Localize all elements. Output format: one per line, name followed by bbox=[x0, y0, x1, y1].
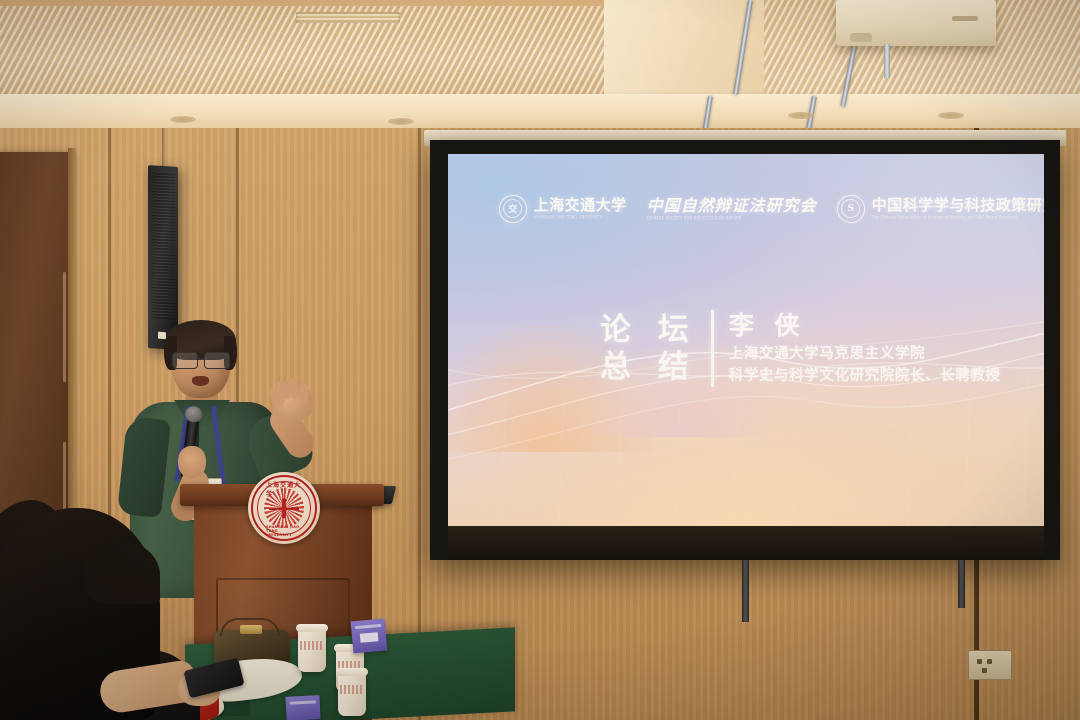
name-card-1-name bbox=[360, 632, 379, 643]
ceiling-downlight-1 bbox=[788, 112, 814, 119]
emblem-top-text: 上海交通大学 bbox=[266, 480, 302, 498]
speaker-cable bbox=[162, 128, 165, 170]
door-edge-highlight-1 bbox=[63, 272, 66, 382]
conference-photo-scene: 交 上海交通大学 SHANGHAI JIAO TONG UNIVERSITY 中… bbox=[0, 0, 1080, 720]
name-card-2-header bbox=[290, 700, 316, 704]
ceiling-vent-left bbox=[296, 12, 400, 23]
slide-affiliation-line-1: 上海交通大学马克思主义学院 bbox=[729, 344, 1001, 365]
ceiling-downlight-2 bbox=[938, 112, 964, 119]
logo-dialectics-cn: 中国自然辩证法研究会 bbox=[647, 198, 817, 214]
sjtu-emblem: 上海交通大学 SHANGHAI JIAO TONG UNIVERSITY bbox=[248, 472, 320, 544]
screen-stand-leg-left bbox=[742, 560, 749, 622]
wall-seam-4 bbox=[418, 128, 421, 720]
slide-title-line-1: 论 坛 bbox=[600, 312, 697, 349]
logo-science-policy-text: 中国科学学与科技政策研究会 The Chinese Association of… bbox=[872, 198, 1044, 220]
paper-cup-3 bbox=[338, 672, 366, 716]
logo-sjtu: 交 上海交通大学 SHANGHAI JIAO TONG UNIVERSITY bbox=[499, 195, 627, 223]
s-seal-glyph: S bbox=[841, 199, 860, 218]
sjtu-seal-icon: 交 bbox=[499, 195, 527, 223]
s-seal-icon: S bbox=[837, 195, 865, 223]
logo-dialectics-en: CHINESE SOCIETY FOR DIALECTICS OF NATURE bbox=[647, 217, 817, 221]
name-card-1 bbox=[351, 619, 388, 654]
name-card-1-header bbox=[355, 624, 381, 629]
logo-sjtu-text: 上海交通大学 SHANGHAI JIAO TONG UNIVERSITY bbox=[534, 198, 627, 220]
slide-title-line-2: 总 结 bbox=[600, 349, 697, 386]
logo-dialectics-text: 中国自然辩证法研究会 CHINESE SOCIETY FOR DIALECTIC… bbox=[647, 198, 817, 221]
slide-affiliation-line-2: 科学史与科学文化研究院院长、长聘教授 bbox=[729, 366, 1001, 387]
ceiling-projector bbox=[836, 0, 996, 46]
logo-sjtu-cn: 上海交通大学 bbox=[534, 198, 627, 213]
cup-band-3 bbox=[340, 685, 364, 694]
paper-cup-1 bbox=[298, 628, 326, 672]
projection-screen: 交 上海交通大学 SHANGHAI JIAO TONG UNIVERSITY 中… bbox=[430, 140, 1060, 560]
logo-sjtu-en: SHANGHAI JIAO TONG UNIVERSITY bbox=[534, 216, 627, 220]
presenter-left-hand bbox=[178, 446, 206, 478]
slide-logo-row: 交 上海交通大学 SHANGHAI JIAO TONG UNIVERSITY 中… bbox=[499, 195, 1044, 223]
slide-title-block: 论 坛 总 结 李 侠 上海交通大学马克思主义学院 科学史与科学文化研究院院长、… bbox=[600, 310, 1001, 387]
presenter-glasses-icon bbox=[172, 352, 230, 367]
logo-science-policy-en: The Chinese Association of Science of Sc… bbox=[872, 216, 1044, 220]
screen-bottom-bar bbox=[448, 526, 1044, 560]
outlet-socket-1 bbox=[977, 659, 982, 664]
outlet-socket-3 bbox=[982, 668, 987, 673]
slide-surface: 交 上海交通大学 SHANGHAI JIAO TONG UNIVERSITY 中… bbox=[448, 154, 1044, 526]
projector-label bbox=[952, 16, 978, 21]
slide-speaker-name: 李 侠 bbox=[729, 310, 1001, 341]
slide-speaker-block: 李 侠 上海交通大学马克思主义学院 科学史与科学文化研究院院长、长聘教授 bbox=[714, 310, 1001, 387]
outlet-socket-2 bbox=[987, 659, 992, 664]
emblem-bottom-text: SHANGHAI JIAO TONG UNIVERSITY bbox=[266, 525, 302, 537]
finger-4 bbox=[299, 383, 308, 403]
speaker-grill-icon bbox=[151, 171, 175, 319]
cup-rim-1 bbox=[296, 624, 328, 632]
handbag-clasp-icon bbox=[240, 625, 262, 634]
projector-mount-arm bbox=[884, 44, 890, 78]
presenter-mouth bbox=[192, 376, 209, 386]
logo-dialectics: 中国自然辩证法研究会 CHINESE SOCIETY FOR DIALECTIC… bbox=[647, 198, 817, 221]
cup-rim-3 bbox=[336, 668, 368, 676]
sjtu-seal-glyph: 交 bbox=[503, 199, 522, 218]
glasses-lens-right bbox=[204, 352, 230, 369]
logo-science-policy-cn: 中国科学学与科技政策研究会 bbox=[872, 198, 1044, 213]
cup-band-1 bbox=[300, 641, 324, 650]
slide-title: 论 坛 总 结 bbox=[600, 310, 711, 387]
ceiling-downlight-3 bbox=[170, 116, 196, 123]
projector-lens-icon bbox=[850, 33, 872, 42]
ceiling-downlight-4 bbox=[388, 118, 414, 125]
name-card-2 bbox=[285, 695, 320, 720]
logo-science-policy: S 中国科学学与科技政策研究会 The Chinese Association … bbox=[837, 195, 1044, 223]
glasses-lens-left bbox=[172, 352, 198, 369]
wall-power-outlet[interactable] bbox=[968, 650, 1012, 680]
screen-stand-leg-right bbox=[958, 560, 965, 608]
